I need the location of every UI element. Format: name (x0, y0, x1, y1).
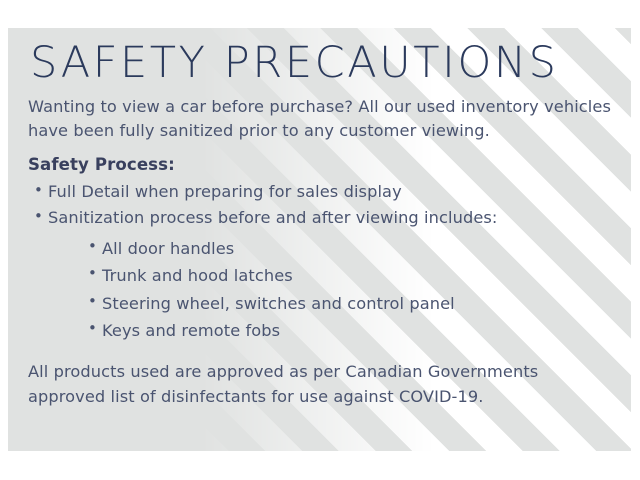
intro-paragraph: Wanting to view a car before purchase? A… (28, 95, 613, 144)
closing-paragraph: All products used are approved as per Ca… (28, 360, 613, 409)
list-item: Steering wheel, switches and control pan… (88, 290, 613, 317)
process-list: Full Detail when preparing for sales dis… (26, 179, 613, 231)
card-content: SAFETY PRECAUTIONS Wanting to view a car… (8, 28, 631, 451)
list-item: Trunk and hood latches (88, 262, 613, 289)
list-item: Sanitization process before and after vi… (34, 205, 613, 231)
list-item: Full Detail when preparing for sales dis… (34, 179, 613, 205)
page-title: SAFETY PRECAUTIONS (30, 42, 613, 85)
safety-precautions-card: SAFETY PRECAUTIONS Wanting to view a car… (8, 28, 631, 451)
section-heading-safety-process: Safety Process: (28, 153, 613, 177)
poster-canvas: SAFETY PRECAUTIONS Wanting to view a car… (0, 0, 640, 480)
list-item: All door handles (88, 235, 613, 262)
list-item: Keys and remote fobs (88, 317, 613, 344)
sanitization-list: All door handles Trunk and hood latches … (26, 235, 613, 344)
